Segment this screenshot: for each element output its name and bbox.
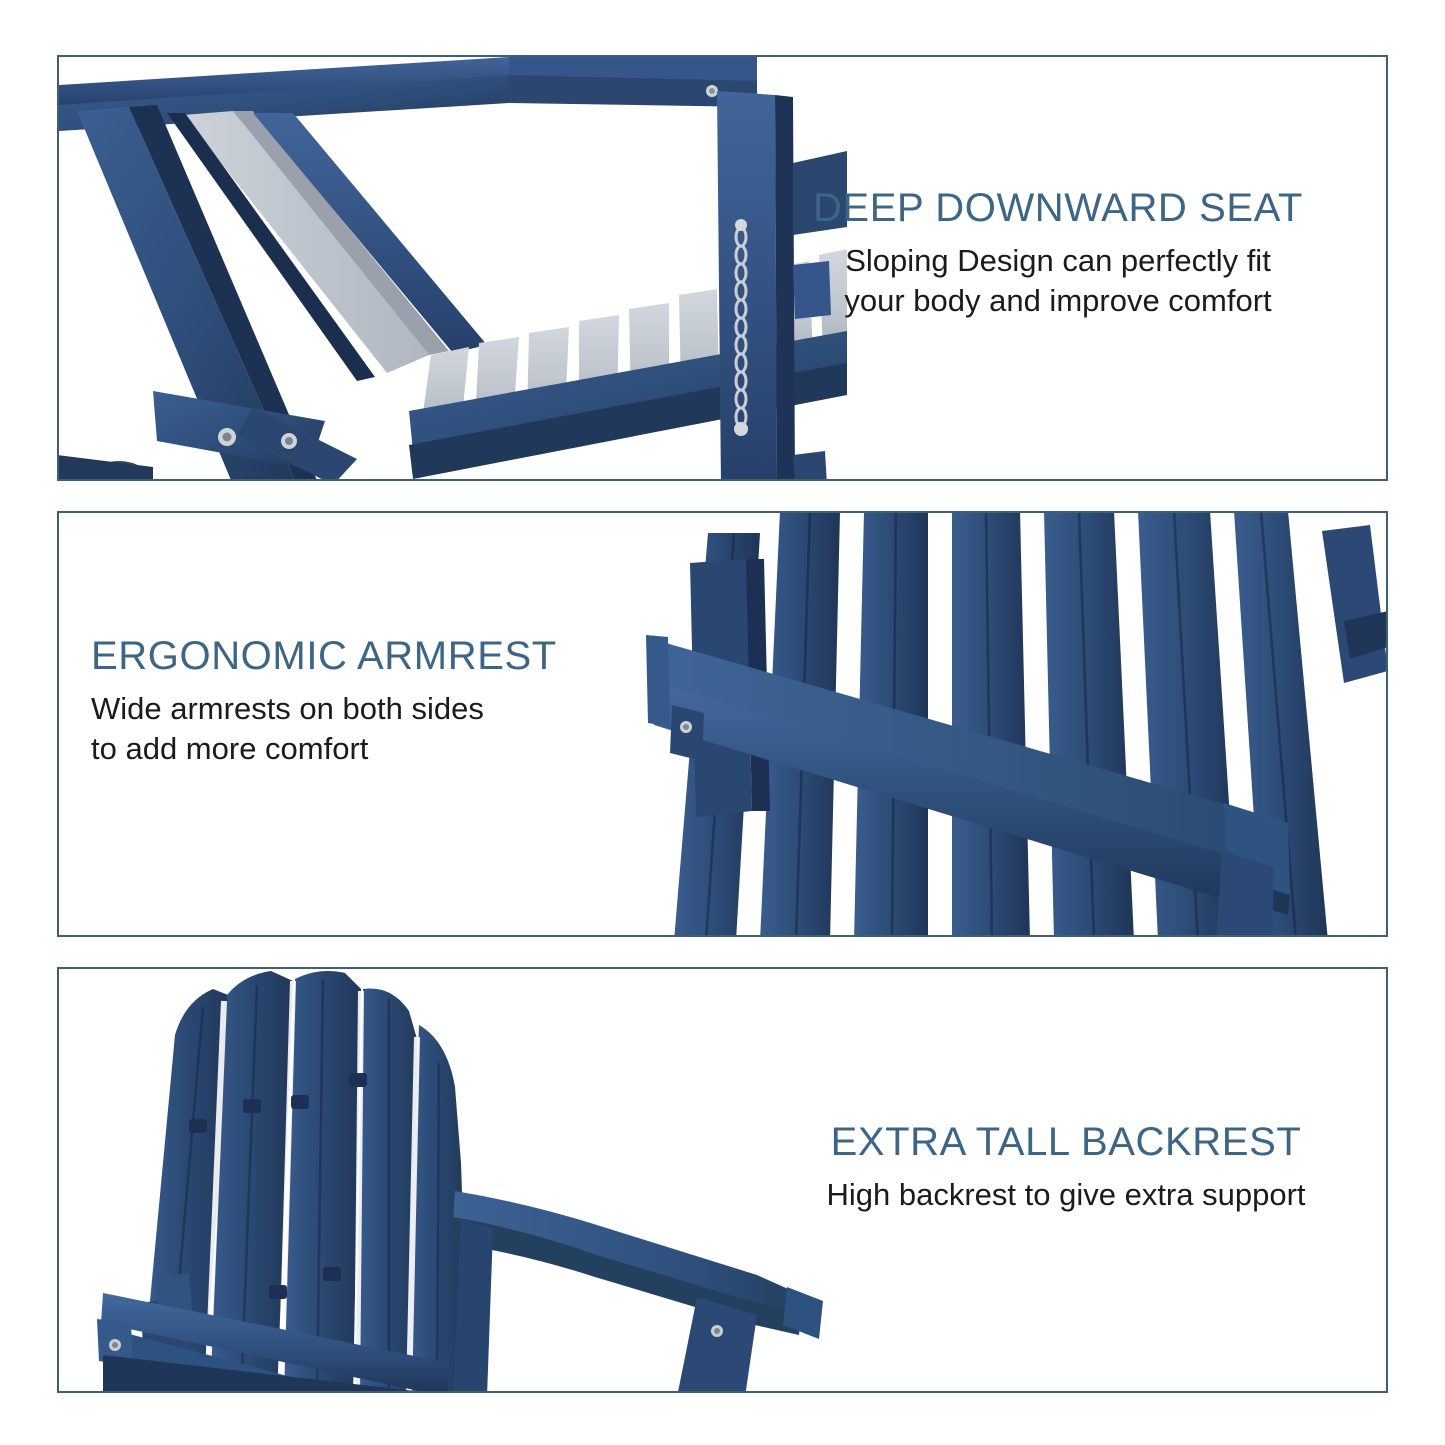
- product-photo-sloping-seat: [57, 55, 847, 481]
- product-photo-armrest: [628, 511, 1388, 937]
- feature-text-block-3: EXTRA TALL BACKREST High backrest to giv…: [766, 1119, 1366, 1215]
- panel-title: EXTRA TALL BACKREST: [766, 1119, 1366, 1165]
- panel-description: High backrest to give extra support: [766, 1175, 1366, 1215]
- panel-description-line: Wide armrests on both sides: [91, 691, 484, 726]
- panel-description: Sloping Design can perfectly fit your bo…: [758, 241, 1358, 320]
- panel-title: DEEP DOWNWARD SEAT: [758, 185, 1358, 231]
- panel-description-line: to add more comfort: [91, 731, 368, 766]
- infographic-page: DEEP DOWNWARD SEAT Sloping Design can pe…: [0, 0, 1445, 1445]
- panel-description: Wide armrests on both sides to add more …: [91, 689, 711, 768]
- feature-text-block-1: DEEP DOWNWARD SEAT Sloping Design can pe…: [758, 185, 1358, 320]
- panel-description-line: your body and improve comfort: [844, 283, 1271, 318]
- panel-description-line: Sloping Design can perfectly fit: [845, 243, 1271, 278]
- feature-panel-ergonomic-armrest: ERGONOMIC ARMREST Wide armrests on both …: [57, 511, 1388, 937]
- feature-text-block-2: ERGONOMIC ARMREST Wide armrests on both …: [91, 633, 711, 768]
- product-photo-tall-backrest: [57, 967, 857, 1393]
- feature-panel-extra-tall-backrest: EXTRA TALL BACKREST High backrest to giv…: [57, 967, 1388, 1393]
- panel-title: ERGONOMIC ARMREST: [91, 633, 711, 679]
- feature-panel-deep-downward-seat: DEEP DOWNWARD SEAT Sloping Design can pe…: [57, 55, 1388, 481]
